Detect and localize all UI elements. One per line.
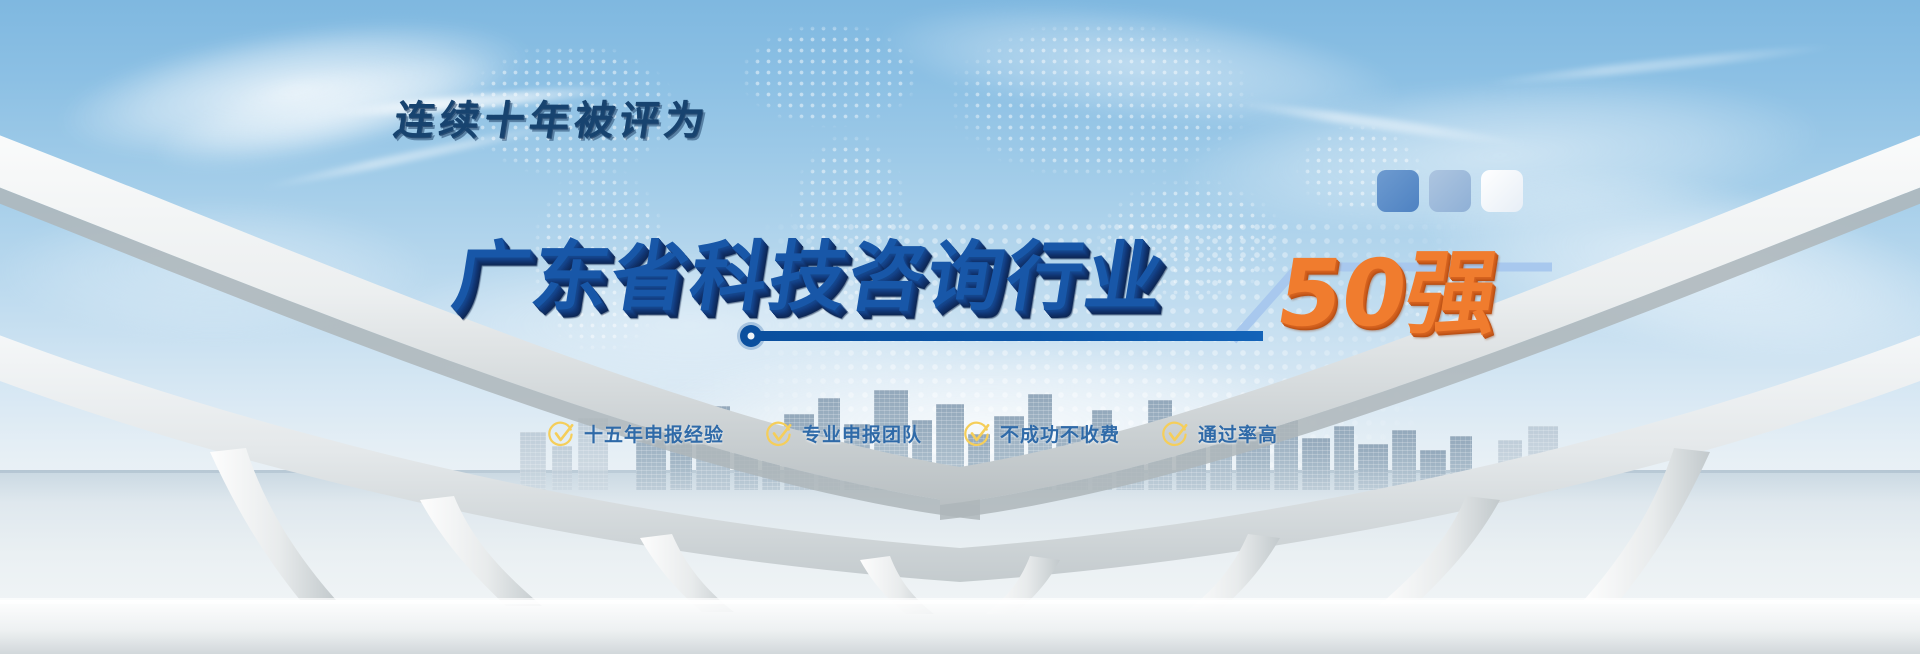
feature-item: 专业申报团队	[766, 420, 922, 447]
pip-white	[1481, 170, 1523, 212]
rank-badge: 50强	[1271, 248, 1506, 340]
feature-label: 通过率高	[1198, 420, 1278, 447]
feature-item: 通过率高	[1162, 420, 1278, 447]
check-circle-icon	[766, 421, 792, 447]
feature-item: 不成功不收费	[964, 420, 1120, 447]
feature-item: 十五年申报经验	[548, 420, 724, 447]
connector-rule	[758, 331, 1263, 341]
pip-solid-blue	[1377, 170, 1419, 212]
decorative-pips	[1377, 170, 1523, 212]
banner-content: 连续十年被评为 广东省科技咨询行业 50强 十五年申报经验	[0, 0, 1920, 654]
pip-mid-blue	[1429, 170, 1471, 212]
check-circle-icon	[964, 421, 990, 447]
check-circle-icon	[548, 421, 574, 447]
check-circle-icon	[1162, 421, 1188, 447]
promo-banner: 连续十年被评为 广东省科技咨询行业 50强 十五年申报经验	[0, 0, 1920, 654]
feature-label: 不成功不收费	[1000, 420, 1120, 447]
feature-label: 十五年申报经验	[584, 420, 724, 447]
feature-label: 专业申报团队	[802, 420, 922, 447]
banner-headline: 广东省科技咨询行业	[446, 215, 1174, 325]
banner-kicker: 连续十年被评为	[390, 88, 714, 146]
feature-list: 十五年申报经验 专业申报团队 不成功不收费	[548, 420, 1278, 447]
